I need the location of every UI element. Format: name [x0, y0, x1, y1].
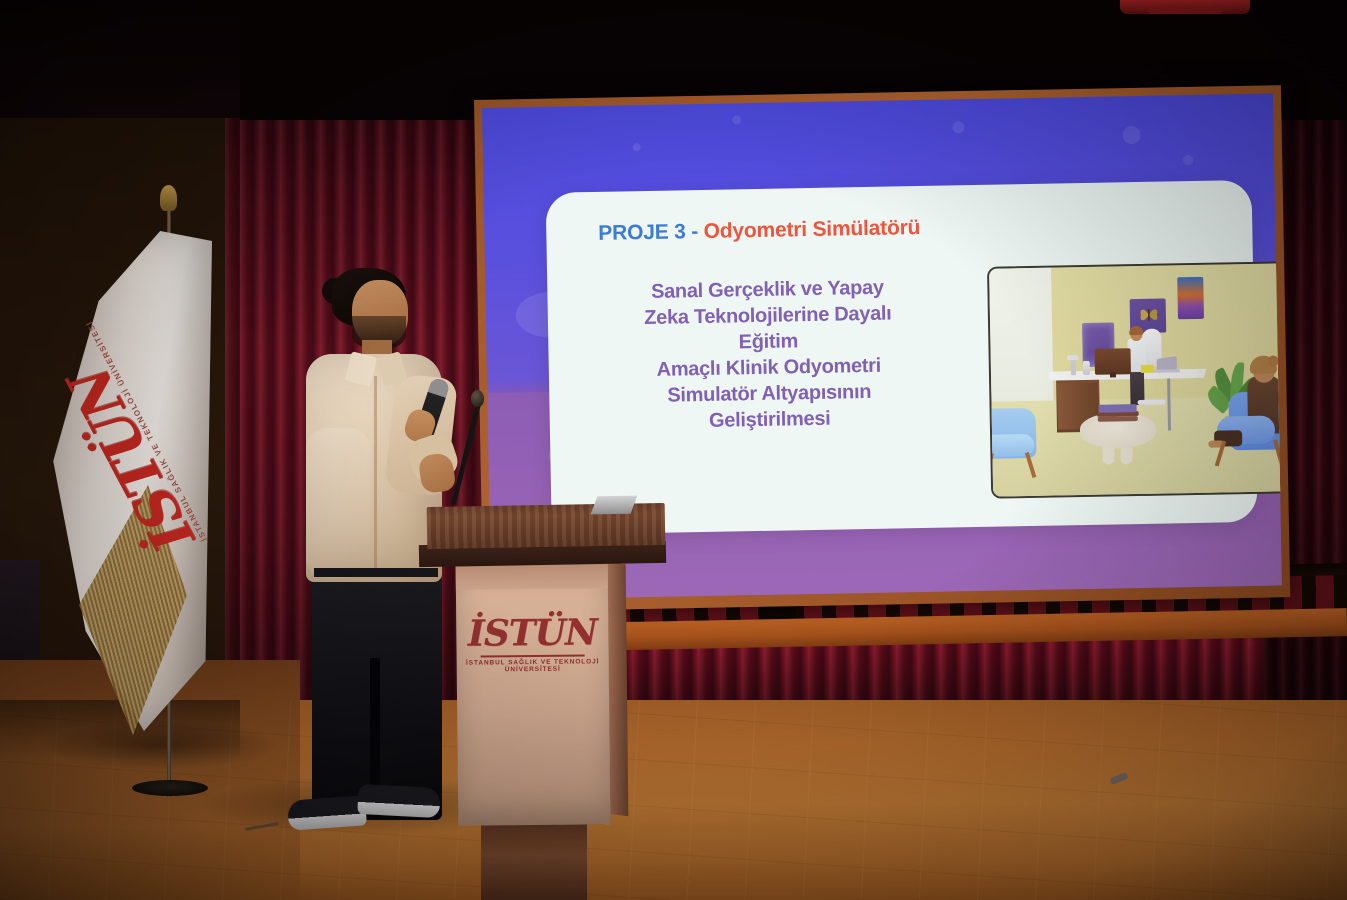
butterfly-icon: [1138, 306, 1160, 324]
auditorium-photo: PROJE 3 - Odyometri Simülatörü Sanal Ger…: [0, 0, 1347, 900]
desktop-monitor-icon: [1095, 348, 1131, 375]
monitor-stand: [1110, 372, 1116, 377]
desk-cup: [1083, 361, 1090, 375]
desk-accessory-box: [1141, 365, 1154, 373]
wall-art-landscape-icon: [1177, 277, 1204, 319]
lectern-logo: İSTÜN İSTANBUL SAĞLIK VE TEKNOLOJİ ÜNİVE…: [456, 614, 609, 674]
slide-title-prefix: PROJE 3 -: [598, 220, 704, 245]
lectern-front-panel: İSTÜN İSTANBUL SAĞLIK VE TEKNOLOJİ ÜNİVE…: [456, 562, 611, 826]
book-stack-top: [1099, 404, 1137, 413]
ceiling-light-fixture-detail: [1148, 8, 1222, 14]
university-flag: İSTÜN İSTANBUL SAĞLIK VE TEKNOLOJİ ÜNİVE…: [36, 185, 216, 745]
lectern-logo-line2: ÜNİVERSİTESİ: [457, 666, 609, 674]
slide-illustration: [987, 261, 1282, 499]
slide-body-text: Sanal Gerçeklik ve Yapay Zeka Teknolojil…: [571, 273, 966, 436]
lectern-panel-top-edge: [456, 562, 608, 590]
book-stack: [1098, 416, 1138, 422]
lectern: İSTÜN İSTANBUL SAĞLIK VE TEKNOLOJİ ÜNİVE…: [419, 505, 666, 900]
laptop-base: [1154, 369, 1180, 372]
slide-title: PROJE 3 - Odyometri Simülatörü: [598, 216, 920, 246]
gooseneck-microphone-icon: [471, 390, 484, 407]
clinician-hair: [1129, 326, 1143, 335]
office-chair-base: [1137, 400, 1165, 406]
slide-bubble: [1183, 155, 1193, 165]
presenter-shoe-left: [287, 795, 367, 830]
slide-bubble: [952, 121, 964, 133]
slide-content-card: PROJE 3 - Odyometri Simülatörü Sanal Ger…: [546, 180, 1258, 535]
desk-lamp-head: [1067, 355, 1079, 360]
slide-bubble: [732, 115, 741, 124]
presenter-shirt-placket: [374, 376, 377, 576]
lectern-logo-script: İSTÜN: [456, 614, 608, 652]
slide-bubble: [1122, 126, 1140, 144]
slide-bubble: [633, 143, 641, 151]
lectern-logo-rule: [481, 654, 585, 657]
lectern-base: [481, 823, 587, 900]
desk-lamp: [1071, 359, 1076, 375]
flag-base: [132, 780, 208, 796]
slide-title-project: Odyometri Simülatörü: [703, 216, 920, 243]
flag-finial-icon: [160, 185, 177, 211]
lectern-paper-clip: [591, 496, 638, 515]
presenter-shirt-highlight: [306, 428, 370, 578]
